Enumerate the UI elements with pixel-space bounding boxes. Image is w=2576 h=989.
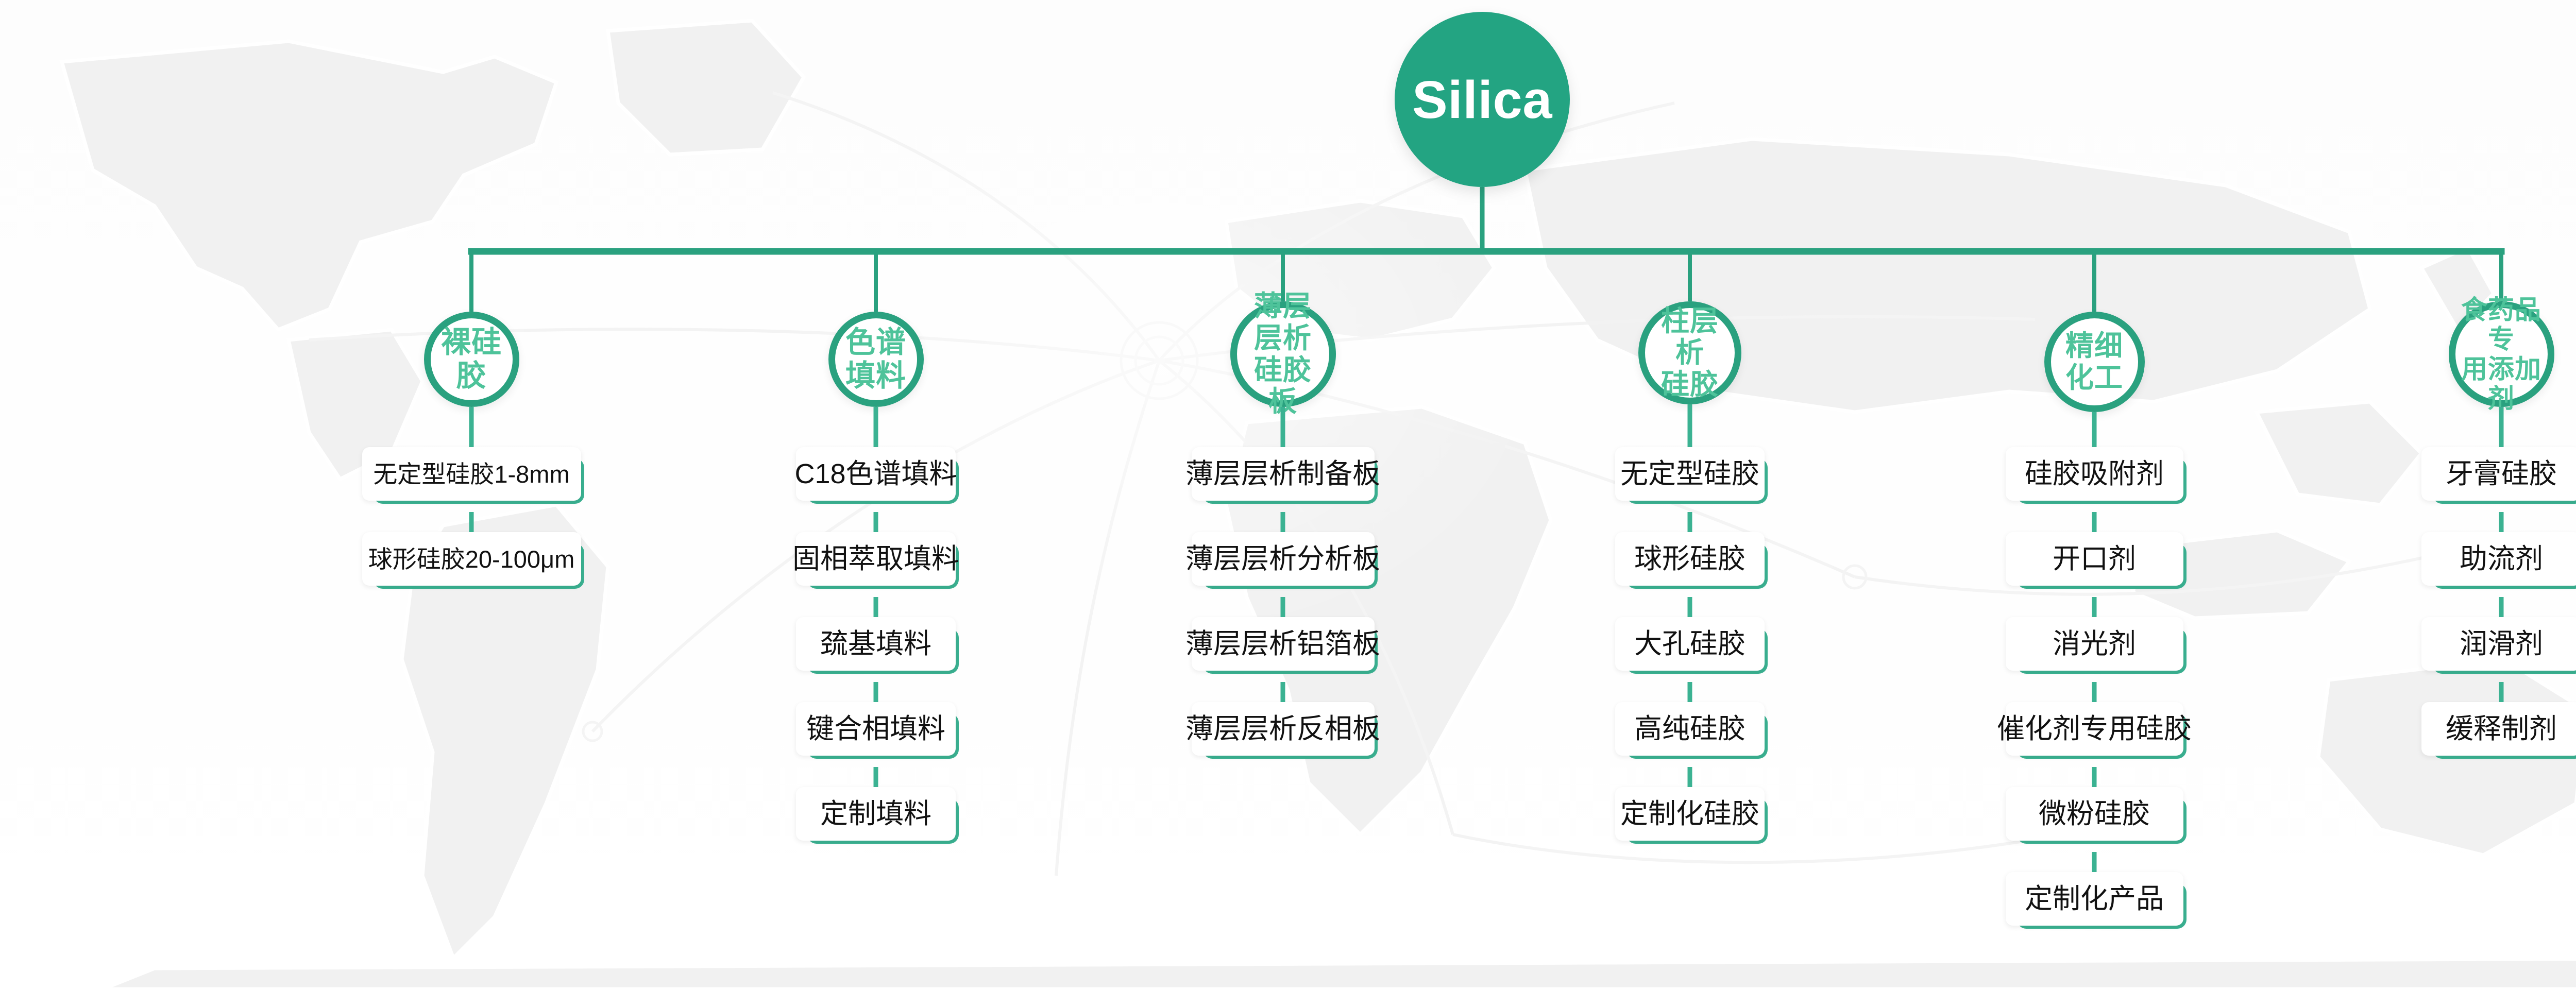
leaf-box-label: 消光剂 (2053, 630, 2136, 658)
branch-node-food-pharma-additives[interactable]: 食药品专 用添加剂 (2449, 301, 2554, 407)
leaf-box-label: 薄层层析反相板 (1185, 715, 1380, 743)
branch-node-label: 裸硅胶 (431, 326, 513, 393)
leaf-box-label: 球形硅胶20-100μm (368, 547, 575, 571)
leaf-box[interactable]: 薄层层析分析板 (1192, 532, 1375, 586)
branch-node-label: 薄层层析 硅胶板 (1237, 291, 1329, 417)
leaf-box-label: 定制化硅胶 (1620, 800, 1759, 828)
leaf-box-label: 牙膏硅胶 (2446, 460, 2557, 488)
leaf-box[interactable]: 薄层层析铝箔板 (1192, 617, 1375, 671)
leaf-box-face: 高纯硅胶 (1615, 702, 1765, 756)
leaf-box-label: 大孔硅胶 (1634, 630, 1745, 658)
leaf-box[interactable]: 定制化硅胶 (1615, 787, 1765, 841)
branch-node-chromatography-packing[interactable]: 色谱填料 (828, 312, 924, 407)
leaf-box-label: 固相萃取填料 (792, 545, 959, 573)
leaf-box[interactable]: 润滑剂 (2421, 617, 2576, 671)
leaf-box[interactable]: 球形硅胶20-100μm (362, 532, 581, 586)
leaf-box[interactable]: 定制化产品 (2006, 872, 2183, 926)
leaf-box[interactable]: 定制填料 (796, 787, 956, 841)
leaf-box-label: 硅胶吸附剂 (2025, 460, 2164, 488)
leaf-box-label: 缓释制剂 (2446, 715, 2557, 743)
leaf-box-face: 助流剂 (2421, 532, 2576, 586)
leaf-box-face: 硅胶吸附剂 (2006, 447, 2183, 501)
leaf-box-face: 定制填料 (796, 787, 956, 841)
leaf-box-label: 开口剂 (2053, 545, 2136, 573)
leaf-box-face: 巯基填料 (796, 617, 956, 671)
branch-node-label: 色谱填料 (835, 326, 917, 393)
leaf-box-label: C18色谱填料 (794, 460, 957, 488)
leaf-box-label: 助流剂 (2460, 545, 2543, 573)
leaf-box[interactable]: 无定型硅胶 (1615, 447, 1765, 501)
leaf-box-face: 缓释制剂 (2421, 702, 2576, 756)
leaf-box[interactable]: 高纯硅胶 (1615, 702, 1765, 756)
leaf-box[interactable]: 球形硅胶 (1615, 532, 1765, 586)
leaf-box[interactable]: 薄层层析制备板 (1192, 447, 1375, 501)
leaf-box[interactable]: 微粉硅胶 (2006, 787, 2183, 841)
leaf-box[interactable]: 薄层层析反相板 (1192, 702, 1375, 756)
leaf-box-label: 薄层层析铝箔板 (1185, 630, 1380, 658)
leaf-box[interactable]: 巯基填料 (796, 617, 956, 671)
leaf-box-face: 定制化硅胶 (1615, 787, 1765, 841)
leaf-box-face: C18色谱填料 (796, 447, 956, 501)
branch-node-label: 柱层析 硅胶 (1645, 305, 1735, 401)
leaf-box-face: 牙膏硅胶 (2421, 447, 2576, 501)
branch-node-label: 食药品专 用添加剂 (2455, 295, 2548, 413)
leaf-box-face: 固相萃取填料 (796, 532, 956, 586)
leaf-box-face: 润滑剂 (2421, 617, 2576, 671)
leaf-box-label: 巯基填料 (820, 630, 931, 658)
leaf-box-label: 高纯硅胶 (1634, 715, 1745, 743)
leaf-box-label: 键合相填料 (806, 715, 945, 743)
root-node-silica[interactable]: Silica (1395, 12, 1570, 187)
leaf-box-face: 消光剂 (2006, 617, 2183, 671)
leaf-box-face: 无定型硅胶1-8mm (362, 447, 581, 501)
leaf-box-face: 定制化产品 (2006, 872, 2183, 926)
leaf-box-label: 薄层层析分析板 (1185, 545, 1380, 573)
branch-node-bare-silica[interactable]: 裸硅胶 (424, 312, 519, 407)
leaf-box-label: 微粉硅胶 (2039, 800, 2150, 828)
leaf-box[interactable]: 催化剂专用硅胶 (2006, 702, 2183, 756)
leaf-box-label: 无定型硅胶1-8mm (373, 462, 569, 486)
leaf-box-label: 球形硅胶 (1634, 545, 1745, 573)
leaf-box[interactable]: 助流剂 (2421, 532, 2576, 586)
branch-node-column-chromatography-silica[interactable]: 柱层析 硅胶 (1638, 301, 1741, 404)
leaf-box[interactable]: 硅胶吸附剂 (2006, 447, 2183, 501)
branch-node-fine-chemicals[interactable]: 精细化工 (2044, 312, 2145, 412)
leaf-box[interactable]: 开口剂 (2006, 532, 2183, 586)
leaf-box[interactable]: 消光剂 (2006, 617, 2183, 671)
leaf-box-face: 大孔硅胶 (1615, 617, 1765, 671)
leaf-box-face: 开口剂 (2006, 532, 2183, 586)
leaf-box-label: 定制化产品 (2025, 885, 2164, 913)
leaf-box[interactable]: 缓释制剂 (2421, 702, 2576, 756)
leaf-box-face: 薄层层析分析板 (1192, 532, 1375, 586)
leaf-box[interactable]: 无定型硅胶1-8mm (362, 447, 581, 501)
branch-node-label: 精细化工 (2051, 330, 2138, 394)
leaf-box-label: 润滑剂 (2460, 630, 2543, 658)
leaf-box-label: 薄层层析制备板 (1185, 460, 1380, 488)
leaf-box-face: 球形硅胶20-100μm (362, 532, 581, 586)
leaf-box-label: 无定型硅胶 (1620, 460, 1759, 488)
leaf-box-face: 无定型硅胶 (1615, 447, 1765, 501)
leaf-box-face: 键合相填料 (796, 702, 956, 756)
leaf-box-face: 微粉硅胶 (2006, 787, 2183, 841)
leaf-box-label: 催化剂专用硅胶 (1997, 715, 2192, 743)
branch-node-tlc-silica-plate[interactable]: 薄层层析 硅胶板 (1230, 301, 1336, 407)
leaf-box[interactable]: 牙膏硅胶 (2421, 447, 2576, 501)
leaf-box-face: 催化剂专用硅胶 (2006, 702, 2183, 756)
root-node-label: Silica (1412, 73, 1552, 126)
leaf-box-face: 薄层层析制备板 (1192, 447, 1375, 501)
leaf-box-face: 薄层层析铝箔板 (1192, 617, 1375, 671)
leaf-box[interactable]: 固相萃取填料 (796, 532, 956, 586)
leaf-box-label: 定制填料 (820, 800, 931, 828)
leaf-box[interactable]: C18色谱填料 (796, 447, 956, 501)
leaf-box-face: 球形硅胶 (1615, 532, 1765, 586)
leaf-box-face: 薄层层析反相板 (1192, 702, 1375, 756)
leaf-box[interactable]: 大孔硅胶 (1615, 617, 1765, 671)
leaf-box[interactable]: 键合相填料 (796, 702, 956, 756)
